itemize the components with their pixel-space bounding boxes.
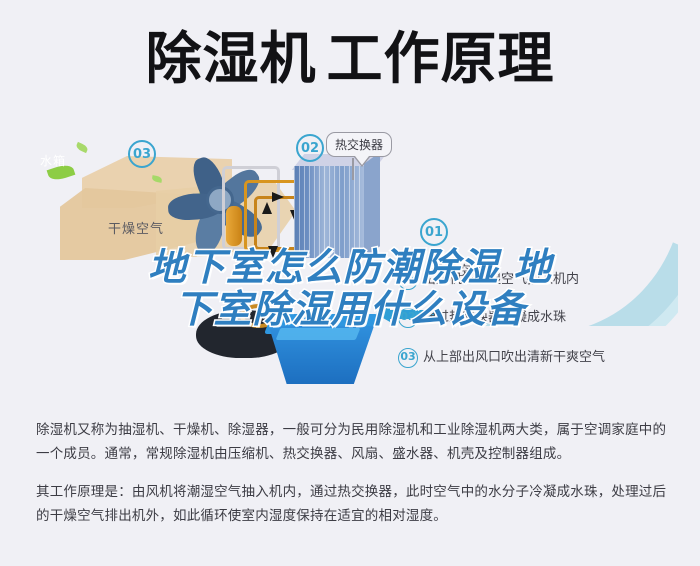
step-line-01: 01由风机将潮湿空气抽入机内 (398, 268, 579, 290)
badge-01: 01 (420, 218, 448, 246)
callout-stem (352, 158, 354, 180)
step-badge-02: 02 (398, 308, 418, 328)
step-text-02: 通过热交换器冷凝成水珠 (423, 310, 566, 325)
heat-exchanger-illustration (294, 154, 384, 262)
paragraph-1: 除湿机又称为抽湿机、干燥机、除湿器，一般可分为民用除湿机和工业除湿机两大类，属于… (36, 418, 670, 466)
step-badge-01: 01 (398, 270, 418, 290)
water-tank-illustration (262, 314, 380, 388)
step-line-03: 03从上部出风口吹出清新干爽空气 (398, 346, 605, 368)
step-text-01: 由风机将潮湿空气抽入机内 (423, 272, 579, 287)
title-main-text: 除湿机 (146, 28, 317, 92)
badge-02: 02 (296, 134, 324, 162)
page-title: 除湿机工作原理 (0, 28, 700, 92)
badge-03: 03 (128, 140, 156, 168)
paragraph-2: 其工作原理是：由风机将潮湿空气抽入机内，通过热交换器，此时空气中的水分子冷凝成水… (36, 480, 670, 528)
heat-exchanger-callout: 热交换器 (326, 132, 392, 157)
infographic-page: 除湿机工作原理 (0, 0, 700, 566)
title-sub-text: 工作原理 (327, 28, 555, 92)
step-text-03: 从上部出风口吹出清新干爽空气 (423, 350, 605, 365)
step-badge-03: 03 (398, 348, 418, 368)
water-tank-label: 水箱 (40, 152, 66, 169)
dry-air-label: 干燥空气 (108, 218, 164, 237)
dehumidifier-diagram: 水箱 03 02 01 热交换器 干燥空气 潮湿空气 01由风机将潮湿空气抽入机… (0, 118, 700, 408)
article-body: 除湿机又称为抽湿机、干燥机、除湿器，一般可分为民用除湿机和工业除湿机两大类，属于… (36, 418, 670, 528)
step-line-02: 02通过热交换器冷凝成水珠 (398, 306, 566, 328)
